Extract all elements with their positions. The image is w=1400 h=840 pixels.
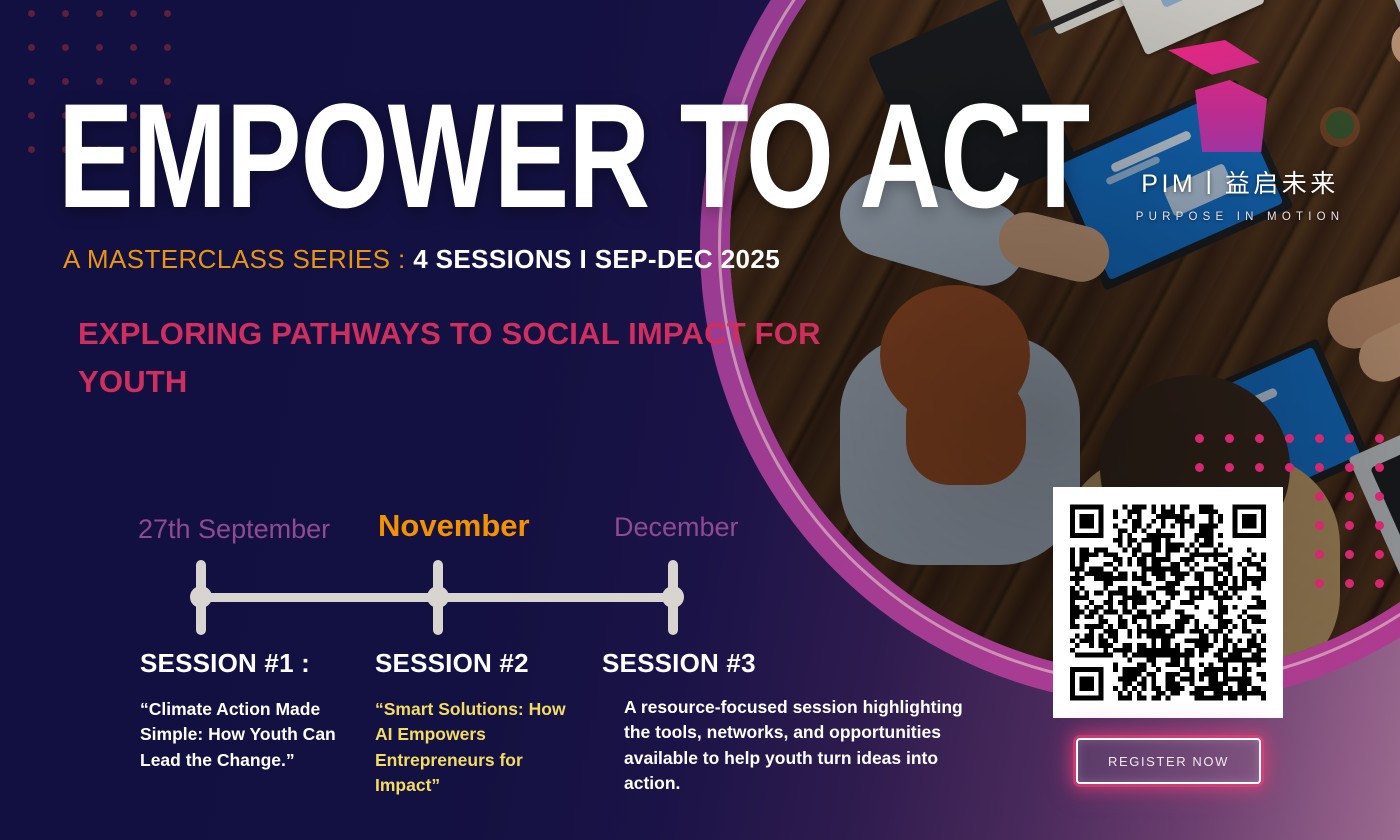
session-body-2: “Smart Solutions: How AI Empowers Entrep… — [375, 697, 575, 799]
session-title-1: SESSION #1 : — [140, 648, 350, 679]
series-value: 4 SESSIONS I SEP-DEC 2025 — [413, 244, 780, 274]
session-card-2: SESSION #2 “Smart Solutions: How AI Empo… — [375, 648, 575, 799]
session-card-1: SESSION #1 : “Climate Action Made Simple… — [140, 648, 350, 773]
register-now-button[interactable]: REGISTER NOW — [1076, 738, 1261, 784]
brand-name: PIM丨益启未来 — [1090, 164, 1390, 200]
pim-origami-logo-icon — [1168, 40, 1268, 150]
qr-code[interactable] — [1070, 504, 1266, 701]
brand-tagline: PURPOSE IN MOTION — [1090, 211, 1390, 223]
session-body-1: “Climate Action Made Simple: How Youth C… — [140, 697, 350, 773]
page-title: EMPOWER TO ACT — [58, 86, 1089, 229]
series-label: A MASTERCLASS SERIES : — [63, 244, 406, 274]
session-body-3: A resource-focused session highlighting … — [624, 695, 970, 797]
session-title-2: SESSION #2 — [375, 648, 575, 679]
timeline-month-1: 27th September — [138, 514, 330, 545]
session-title-3: SESSION #3 — [602, 648, 970, 679]
session-timeline: 27th September November December — [0, 498, 900, 658]
series-line: A MASTERCLASS SERIES : 4 SESSIONS I SEP-… — [63, 244, 780, 275]
poster-canvas: PIM丨益启未来 PURPOSE IN MOTION EMPOWER TO AC… — [0, 0, 1400, 840]
brand-logo: PIM丨益启未来 PURPOSE IN MOTION — [1090, 40, 1390, 223]
timeline-month-2: November — [378, 508, 530, 544]
qr-code-card — [1053, 487, 1283, 718]
timeline-month-3: December — [614, 512, 739, 543]
subtitle-tagline: EXPLORING PATHWAYS TO SOCIAL IMPACT FOR … — [78, 310, 838, 406]
session-card-3: SESSION #3 A resource-focused session hi… — [602, 648, 970, 797]
